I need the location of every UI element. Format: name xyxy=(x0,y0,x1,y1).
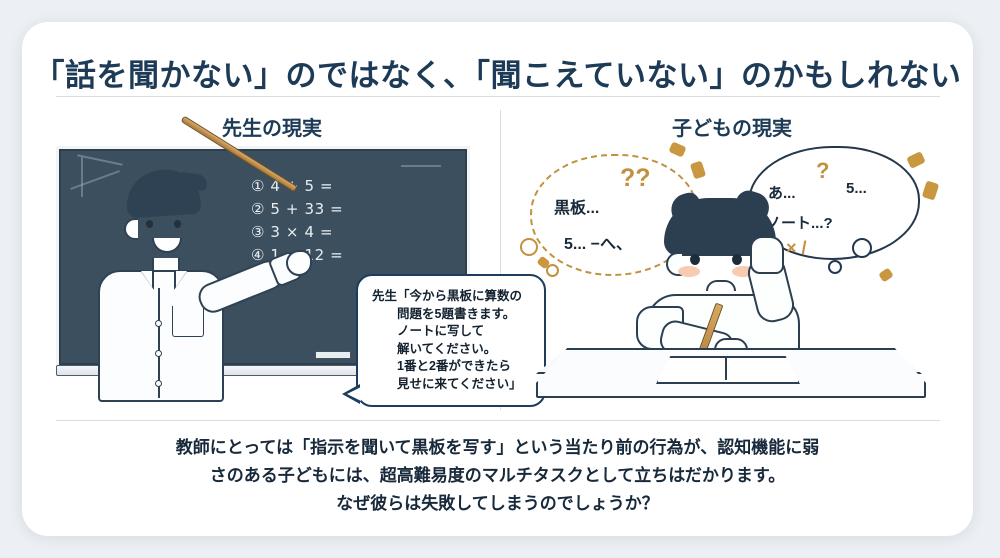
thought-left-line-2: 5... −へ、 xyxy=(564,230,632,254)
question-marks-left: ?? xyxy=(620,164,651,193)
notebook xyxy=(656,356,800,384)
confusion-flake xyxy=(668,141,686,157)
content-card: 「話を聞かない」のではなく、「聞こえていない」のかもしれない 先生の現実 子ども… xyxy=(22,22,973,536)
teacher-shirt-pocket xyxy=(172,306,204,337)
thought-bubble-dot xyxy=(546,264,559,277)
column-header-teacher: 先生の現実 xyxy=(52,112,492,141)
chalk-tray-icon xyxy=(315,351,351,359)
caption-text: 教師にとっては「指示を聞いて黒板を写す」という当たり前の行為が、認知機能に弱 さ… xyxy=(52,434,943,518)
teacher-ear xyxy=(124,218,138,240)
teacher-figure xyxy=(80,170,270,398)
teacher-shirt-button xyxy=(155,350,162,357)
child-eye xyxy=(690,254,700,265)
chalk-smudge-icon xyxy=(401,165,441,167)
teacher-hair xyxy=(124,167,201,218)
slide-canvas: 「話を聞かない」のではなく、「聞こえていない」のかもしれない 先生の現実 子ども… xyxy=(0,0,1000,558)
child-mouth xyxy=(706,280,736,291)
teacher-eye xyxy=(174,220,181,228)
child-eye xyxy=(732,254,742,265)
teacher-hand xyxy=(286,250,312,276)
child-figure xyxy=(640,198,820,358)
speech-bubble: 先生「今から黒板に算数の 問題を5題書きます。 ノートに写して 解いてください。… xyxy=(356,274,546,407)
notebook-spine xyxy=(725,356,727,380)
title-divider xyxy=(56,96,940,97)
child-hand-on-head xyxy=(750,236,784,274)
speech-bubble-text: 先生「今から黒板に算数の 問題を5題書きます。 ノートに写して 解いてください。… xyxy=(372,288,532,393)
confusion-flake xyxy=(922,180,940,200)
thought-bubble-dot xyxy=(828,260,842,274)
teacher-shirt-button xyxy=(155,380,162,387)
thought-bubble-dot xyxy=(852,238,872,258)
caption-divider xyxy=(56,420,940,421)
thought-right-line-2: 5... xyxy=(846,180,867,197)
confusion-flake xyxy=(906,151,926,169)
child-blush xyxy=(678,266,700,277)
child-illustration: ?? 黒板... 5... −へ、 ? あ... 5... ノート...? × … xyxy=(520,142,952,414)
teacher-shirt-button xyxy=(155,320,162,327)
thought-bubble-dot xyxy=(520,238,538,256)
teacher-collar-fill xyxy=(176,271,187,287)
confusion-flake xyxy=(878,267,894,282)
column-header-child: 子どもの現実 xyxy=(512,112,952,141)
teacher-smile xyxy=(152,238,182,253)
thought-left-line-1: 黒板... xyxy=(554,194,599,218)
teacher-collar-fill xyxy=(141,271,152,287)
confusion-flake xyxy=(690,161,706,180)
chalk-smudge-icon xyxy=(77,154,122,165)
question-mark-right: ? xyxy=(816,158,829,184)
teacher-illustration: ① 4 + 5 = ② 5 + 33 = ③ 3 × 4 = ④ 1 − 12 … xyxy=(56,146,496,414)
speech-bubble-tail xyxy=(342,384,360,404)
page-title: 「話を聞かない」のではなく、「聞こえていない」のかもしれない xyxy=(22,50,973,95)
teacher-eye xyxy=(146,220,153,228)
